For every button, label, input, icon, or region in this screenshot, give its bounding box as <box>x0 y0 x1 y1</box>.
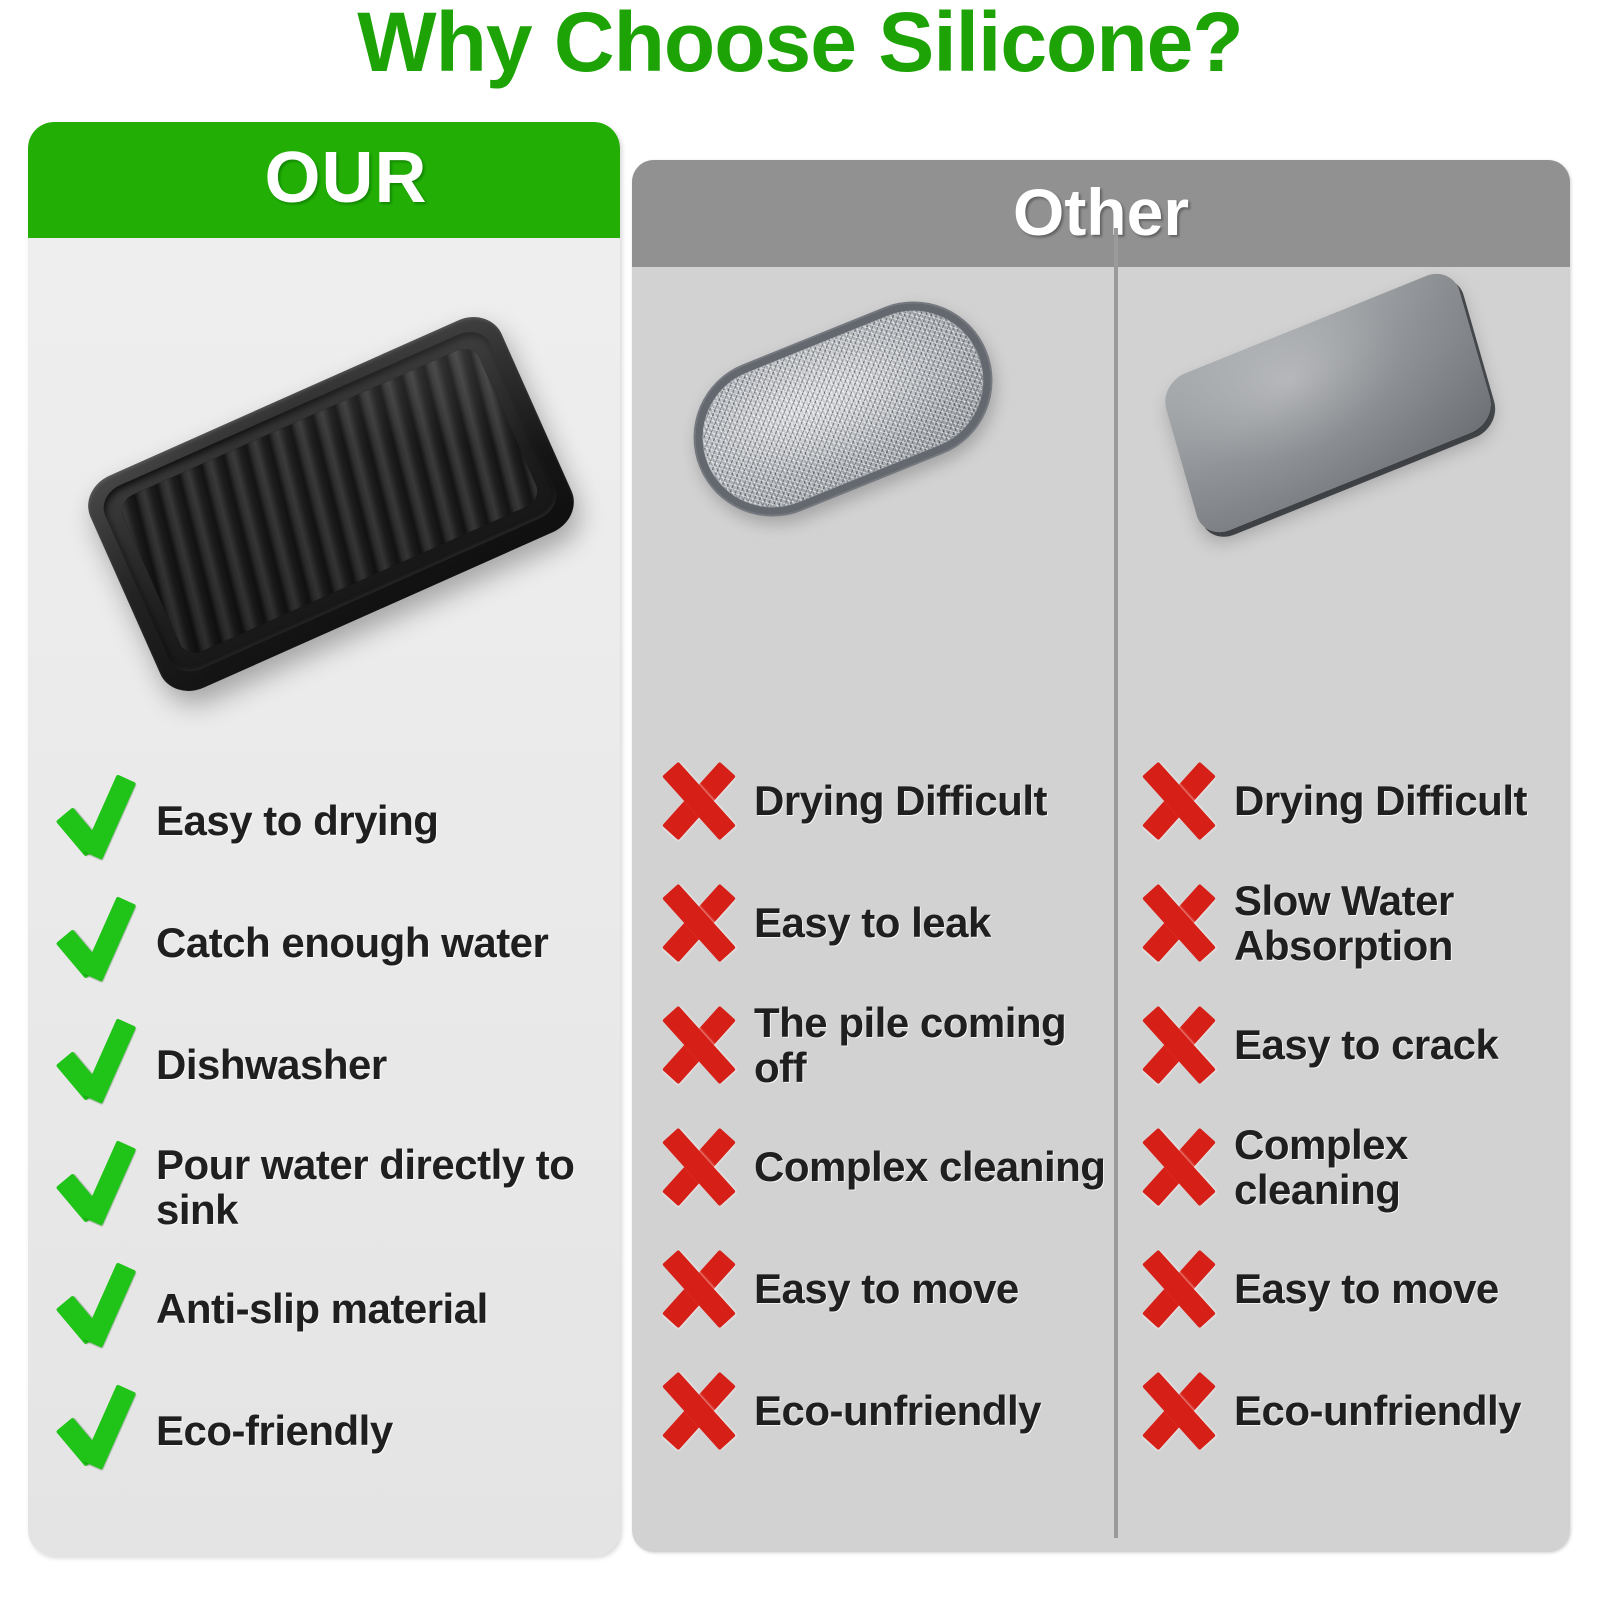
check-icon <box>52 781 138 861</box>
list-item: Easy to move <box>660 1228 1110 1350</box>
other-column-1-feature-list: Drying Difficult Easy to leak The pile c… <box>660 740 1110 1472</box>
list-item: Slow Water Absorption <box>1140 862 1570 984</box>
list-item: Complex cleaning <box>1140 1106 1570 1228</box>
other-column-1-product-area <box>632 270 1114 690</box>
our-product-area <box>28 238 620 848</box>
list-item: Catch enough water <box>52 882 612 1004</box>
list-item-label: Complex cleaning <box>1234 1122 1570 1213</box>
list-item: Drying Difficult <box>1140 740 1570 862</box>
cross-icon <box>660 1372 738 1450</box>
list-item-label: Pour water directly to sink <box>156 1142 612 1233</box>
other-panel-header-label: Other <box>1013 174 1189 250</box>
list-item-label: Easy to leak <box>754 900 991 945</box>
list-item: Dishwasher <box>52 1004 612 1126</box>
list-item-label: Dishwasher <box>156 1042 387 1087</box>
gray-stone-mat-icon <box>1159 266 1497 541</box>
list-item: Eco-unfriendly <box>660 1350 1110 1472</box>
list-item-label: Drying Difficult <box>754 778 1047 823</box>
microfiber-texture <box>683 291 1004 528</box>
list-item: Complex cleaning <box>660 1106 1110 1228</box>
list-item: Pour water directly to sink <box>52 1126 612 1248</box>
our-feature-list: Easy to drying Catch enough water Dishwa… <box>52 760 612 1492</box>
list-item: Anti-slip material <box>52 1248 612 1370</box>
cross-icon <box>660 884 738 962</box>
cross-icon <box>660 1250 738 1328</box>
list-item: Eco-friendly <box>52 1370 612 1492</box>
list-item: Easy to drying <box>52 760 612 882</box>
cross-icon <box>660 1128 738 1206</box>
cross-icon <box>1140 1128 1218 1206</box>
list-item-label: Complex cleaning <box>754 1144 1105 1189</box>
other-column-2-feature-list: Drying Difficult Slow Water Absorption E… <box>1140 740 1570 1472</box>
other-column-2-product-area <box>1118 270 1570 690</box>
cross-icon <box>1140 1250 1218 1328</box>
list-item: Drying Difficult <box>660 740 1110 862</box>
list-item-label: Easy to move <box>1234 1266 1499 1311</box>
list-item-label: Eco-unfriendly <box>1234 1388 1521 1433</box>
check-icon <box>52 1147 138 1227</box>
check-icon <box>52 1391 138 1471</box>
check-icon <box>52 1025 138 1105</box>
our-panel-header: OUR <box>28 122 620 238</box>
gray-microfiber-pad-icon <box>670 278 1017 541</box>
list-item-label: Eco-friendly <box>156 1408 393 1453</box>
list-item-label: Easy to move <box>754 1266 1019 1311</box>
cross-icon <box>1140 762 1218 840</box>
list-item-label: Anti-slip material <box>156 1286 488 1331</box>
list-item: Eco-unfriendly <box>1140 1350 1570 1472</box>
check-icon <box>52 1269 138 1349</box>
list-item-label: Eco-unfriendly <box>754 1388 1041 1433</box>
list-item-label: The pile coming off <box>754 1000 1110 1091</box>
list-item-label: Easy to drying <box>156 798 438 843</box>
list-item: Easy to leak <box>660 862 1110 984</box>
list-item: Easy to crack <box>1140 984 1570 1106</box>
list-item: Easy to move <box>1140 1228 1570 1350</box>
cross-icon <box>1140 1372 1218 1450</box>
other-panel-header: Other <box>632 160 1570 267</box>
cross-icon <box>1140 884 1218 962</box>
list-item-label: Slow Water Absorption <box>1234 878 1454 969</box>
page-title: Why Choose Silicone? <box>0 0 1600 91</box>
cross-icon <box>660 1006 738 1084</box>
black-silicone-tray-icon <box>78 307 583 702</box>
our-panel: OUR Easy to drying Catch enough water Di… <box>28 122 620 1556</box>
list-item-label: Easy to crack <box>1234 1022 1498 1067</box>
cross-icon <box>660 762 738 840</box>
list-item-label: Drying Difficult <box>1234 778 1527 823</box>
check-icon <box>52 903 138 983</box>
cross-icon <box>1140 1006 1218 1084</box>
stone-mat-sheen <box>1159 266 1497 541</box>
list-item-label: Catch enough water <box>156 920 548 965</box>
list-item: The pile coming off <box>660 984 1110 1106</box>
our-panel-header-label: OUR <box>265 137 428 219</box>
